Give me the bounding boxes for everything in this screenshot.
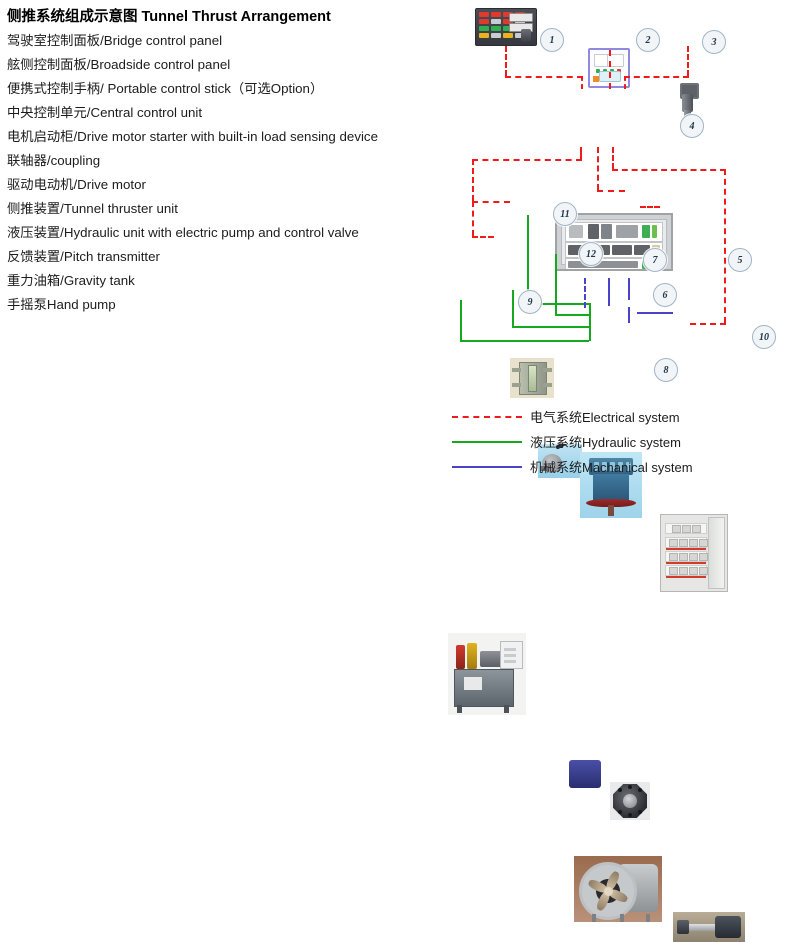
electrical-line (472, 159, 474, 201)
callout-3: 3 (702, 30, 726, 54)
legend-swatch-electrical (452, 416, 522, 418)
electrical-line (580, 147, 582, 159)
diagram-page: 侧推系统组成示意图 Tunnel Thrust Arrangement 驾驶室控… (0, 0, 788, 490)
list-item: 重力油箱/Gravity tank (7, 269, 457, 293)
list-item: 液压装置/Hydraulic unit with electric pump a… (7, 221, 457, 245)
page-title: 侧推系统组成示意图 Tunnel Thrust Arrangement (7, 6, 457, 28)
hydraulic-line (589, 303, 591, 341)
list-item: 驾驶室控制面板/Bridge control panel (7, 29, 457, 53)
legend-label-mechanical: 机械系统Machanical system (530, 457, 693, 476)
electrical-line (472, 201, 510, 203)
coupling[interactable] (610, 782, 650, 820)
list-item: 侧推装置/Tunnel thruster unit (7, 197, 457, 221)
electrical-line (472, 201, 474, 236)
mechanical-line (608, 278, 610, 306)
tunnel-thruster-unit[interactable] (574, 856, 662, 922)
cabinet-shelf (565, 222, 663, 242)
motor-body (715, 916, 741, 938)
drive-motor-starter-cabinet[interactable] (660, 514, 728, 592)
tank-gauge (528, 365, 537, 392)
electrical-line (624, 76, 626, 89)
hydraulic-power-unit[interactable] (448, 633, 526, 715)
list-item: 驱动电动机/Drive motor (7, 173, 457, 197)
list-item: 便携式控制手柄/ Portable control stick（可选Option… (7, 77, 457, 101)
hydraulic-line (512, 290, 514, 326)
electrical-line (640, 206, 660, 208)
electrical-line (687, 46, 689, 76)
electrical-line (472, 159, 582, 161)
cabinet-door (708, 517, 725, 589)
cabinet-rail (665, 551, 707, 562)
electrical-line (612, 147, 614, 169)
pitch-transmitter[interactable] (569, 760, 601, 788)
cabinet-rail (665, 523, 707, 534)
electrical-line (624, 76, 689, 78)
drive-motor[interactable] (673, 912, 745, 942)
hydraulic-line (460, 300, 462, 340)
callout-10: 10 (752, 325, 776, 349)
electrical-line (690, 323, 726, 325)
gravity-tank[interactable] (510, 358, 554, 398)
electrical-line (472, 236, 494, 238)
legend-row-hydraulic: 液压系统Hydraulic system (452, 429, 693, 454)
schematic-diagram: 1 2 3 (440, 0, 788, 400)
filter-yellow (467, 643, 477, 669)
hydraulic-line (555, 254, 557, 314)
list-item: 手摇泵Hand pump (7, 293, 457, 317)
hydraulic-line (555, 314, 589, 316)
electrical-line (597, 147, 599, 190)
legend-row-mechanical: 机械系统Machanical system (452, 454, 693, 479)
list-item: 中央控制单元/Central control unit (7, 101, 457, 125)
list-item: 电机启动柜/Drive motor starter with built-in … (7, 125, 457, 149)
legend-label-hydraulic: 液压系统Hydraulic system (530, 432, 681, 451)
legend: 电气系统Electrical system 液压系统Hydraulic syst… (452, 404, 693, 479)
filter-red (456, 645, 465, 669)
callout-4: 4 (680, 114, 704, 138)
panel-display (509, 13, 533, 22)
cabinet-rail (665, 537, 707, 548)
hydraulic-line (460, 340, 589, 342)
callout-6: 6 (653, 283, 677, 307)
callout-2: 2 (636, 28, 660, 52)
electrical-line (724, 169, 726, 323)
propeller-hub (604, 887, 613, 896)
electrical-line (609, 50, 611, 89)
legend-swatch-hydraulic (452, 441, 522, 443)
legend-label-electrical: 电气系统Electrical system (530, 407, 680, 426)
component-list: 侧推系统组成示意图 Tunnel Thrust Arrangement 驾驶室控… (7, 6, 457, 317)
electrical-line (505, 46, 507, 76)
callout-7: 7 (643, 248, 667, 272)
electrical-line (505, 76, 583, 78)
callout-11: 11 (553, 202, 577, 226)
bridge-control-panel[interactable] (475, 8, 537, 46)
mechanical-line (628, 307, 630, 323)
callout-8: 8 (654, 358, 678, 382)
motor-bearing (677, 920, 689, 934)
callout-1: 1 (540, 28, 564, 52)
propeller-ring (579, 862, 637, 920)
list-item: 反馈装置/Pitch transmitter (7, 245, 457, 269)
mechanical-line (584, 278, 586, 308)
mechanical-line (628, 278, 630, 300)
legend-swatch-mechanical (452, 466, 522, 468)
electrical-line (597, 190, 625, 192)
control-box (500, 641, 523, 669)
legend-row-electrical: 电气系统Electrical system (452, 404, 693, 429)
list-item: 舷侧控制面板/Broadside control panel (7, 53, 457, 77)
electrical-line (581, 76, 583, 89)
callout-12: 12 (579, 242, 603, 266)
electrical-line (612, 169, 726, 171)
joystick-icon (521, 29, 531, 42)
electric-pump (480, 651, 502, 667)
hydraulic-line (512, 326, 589, 328)
list-item: 联轴器/coupling (7, 149, 457, 173)
mechanical-line (637, 312, 673, 314)
cabinet-rail (665, 565, 707, 576)
oil-tank (454, 669, 514, 707)
hub-shaft (608, 505, 614, 516)
tank-nameplate (464, 677, 482, 690)
callout-9: 9 (518, 290, 542, 314)
coupling-hub (623, 794, 637, 808)
callout-5: 5 (728, 248, 752, 272)
